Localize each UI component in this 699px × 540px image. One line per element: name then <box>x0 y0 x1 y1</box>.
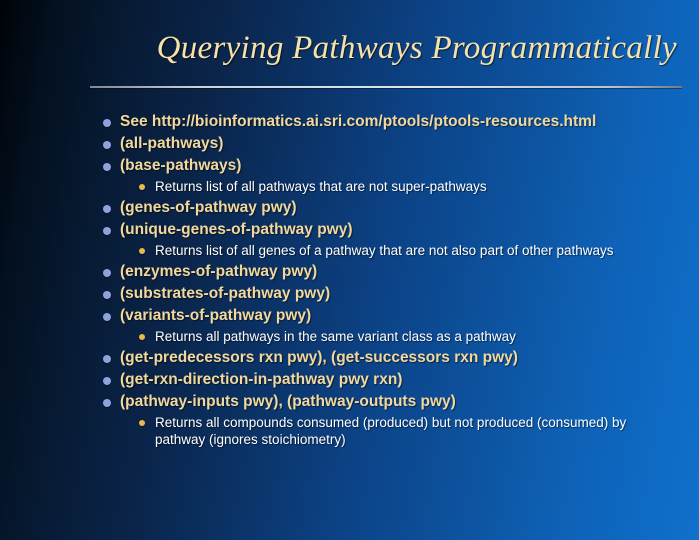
bullet-item-level-1: (enzymes-of-pathway pwy) <box>0 262 699 283</box>
slide-title-block: Querying Pathways Programmatically <box>0 26 699 78</box>
bullet-text: (get-rxn-direction-in-pathway pwy rxn) <box>120 370 683 390</box>
bullet-item-level-2: Returns list of all pathways that are no… <box>0 178 699 197</box>
bullet-dot-icon <box>103 291 111 299</box>
slide-bullet-list: See http://bioinformatics.ai.sri.com/pto… <box>0 112 699 449</box>
bullet-text: Returns all pathways in the same variant… <box>155 328 675 345</box>
bullet-dot-icon <box>103 269 111 277</box>
bullet-text: (genes-of-pathway pwy) <box>120 198 683 218</box>
bullet-item-level-1: (variants-of-pathway pwy) <box>0 306 699 327</box>
bullet-text: (base-pathways) <box>120 156 683 176</box>
bullet-dot-icon <box>103 227 111 235</box>
bullet-text: See http://bioinformatics.ai.sri.com/pto… <box>120 112 683 132</box>
bullet-text: (substrates-of-pathway pwy) <box>120 284 683 304</box>
bullet-dot-icon <box>103 313 111 321</box>
bullet-text: (pathway-inputs pwy), (pathway-outputs p… <box>120 392 683 412</box>
bullet-dot-icon <box>139 248 145 254</box>
bullet-item-level-2: Returns list of all genes of a pathway t… <box>0 242 699 261</box>
bullet-dot-icon <box>103 163 111 171</box>
bullet-text: (unique-genes-of-pathway pwy) <box>120 220 683 240</box>
page-title: Querying Pathways Programmatically <box>0 26 699 70</box>
bullet-dot-icon <box>139 334 145 340</box>
presentation-slide: Querying Pathways Programmatically See h… <box>0 0 699 540</box>
bullet-text: (all-pathways) <box>120 134 683 154</box>
bullet-item-level-1: (genes-of-pathway pwy) <box>0 198 699 219</box>
bullet-item-level-1: (all-pathways) <box>0 134 699 155</box>
bullet-text: (variants-of-pathway pwy) <box>120 306 683 326</box>
bullet-item-level-2: Returns all compounds consumed (produced… <box>0 414 699 448</box>
bullet-item-level-1: (get-rxn-direction-in-pathway pwy rxn) <box>0 370 699 391</box>
bullet-text: Returns list of all genes of a pathway t… <box>155 242 675 259</box>
bullet-dot-icon <box>103 355 111 363</box>
bullet-dot-icon <box>103 205 111 213</box>
bullet-text: (get-predecessors rxn pwy), (get-success… <box>120 348 683 368</box>
bullet-text: Returns all compounds consumed (produced… <box>155 414 675 448</box>
bullet-item-level-1: (substrates-of-pathway pwy) <box>0 284 699 305</box>
bullet-dot-icon <box>103 377 111 385</box>
bullet-item-level-1: See http://bioinformatics.ai.sri.com/pto… <box>0 112 699 133</box>
bullet-item-level-1: (pathway-inputs pwy), (pathway-outputs p… <box>0 392 699 413</box>
bullet-item-level-1: (base-pathways) <box>0 156 699 177</box>
bullet-dot-icon <box>103 119 111 127</box>
bullet-item-level-2: Returns all pathways in the same variant… <box>0 328 699 347</box>
title-divider <box>90 86 682 88</box>
bullet-item-level-1: (unique-genes-of-pathway pwy) <box>0 220 699 241</box>
bullet-item-level-1: (get-predecessors rxn pwy), (get-success… <box>0 348 699 369</box>
bullet-dot-icon <box>103 399 111 407</box>
bullet-dot-icon <box>139 184 145 190</box>
bullet-dot-icon <box>103 141 111 149</box>
bullet-text: Returns list of all pathways that are no… <box>155 178 675 195</box>
bullet-text: (enzymes-of-pathway pwy) <box>120 262 683 282</box>
bullet-dot-icon <box>139 420 145 426</box>
